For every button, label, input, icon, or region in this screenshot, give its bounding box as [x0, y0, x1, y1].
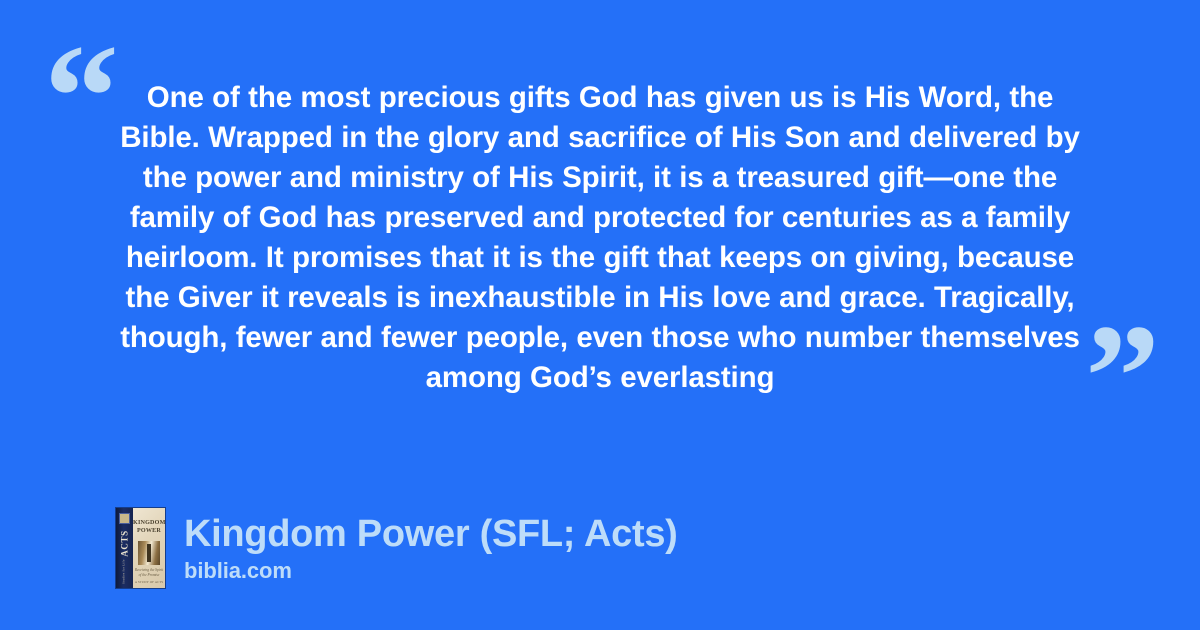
opening-quote-icon: “ — [44, 22, 117, 172]
quote-text: One of the most precious gifts God has g… — [110, 78, 1090, 398]
closing-quote-icon: ” — [1085, 302, 1158, 452]
book-front-author-label: A STUDY OF ACTS — [133, 580, 165, 584]
book-spine-subtitle-label: Studies for Life — [122, 554, 125, 588]
book-front-artwork — [138, 541, 160, 565]
book-front-cover: KINGDOM POWER Receiving the Spirit of th… — [133, 508, 165, 588]
book-spine: ACTS Studies for Life — [116, 508, 133, 588]
attribution[interactable]: ACTS Studies for Life KINGDOM POWER Rece… — [116, 508, 678, 588]
source-title: Kingdom Power (SFL; Acts) — [184, 512, 678, 556]
quote-card: “ One of the most precious gifts God has… — [0, 0, 1200, 630]
attribution-text: Kingdom Power (SFL; Acts) biblia.com — [184, 512, 678, 585]
source-site-link[interactable]: biblia.com — [184, 557, 678, 585]
quote-text-block: One of the most precious gifts God has g… — [110, 78, 1090, 398]
book-front-title-label: KINGDOM POWER — [133, 519, 165, 535]
book-cover-thumbnail[interactable]: ACTS Studies for Life KINGDOM POWER Rece… — [116, 508, 165, 588]
book-front-subtitle-label: Receiving the Spirit of the Promise — [133, 568, 165, 577]
